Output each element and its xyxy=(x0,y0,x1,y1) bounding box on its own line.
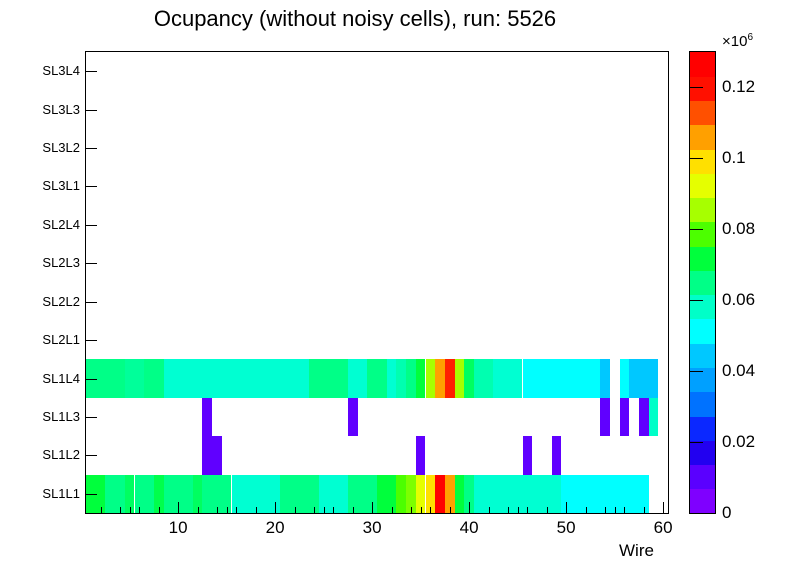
heatmap-cell xyxy=(387,359,397,397)
y-axis-tick xyxy=(86,148,97,149)
colorbar-band xyxy=(690,76,715,101)
y-axis-label-sl1l1: SL1L1 xyxy=(42,487,80,500)
colorbar-exponent: ×106 xyxy=(722,30,753,49)
y-axis-label-sl2l4: SL2L4 xyxy=(42,218,80,231)
colorbar-band xyxy=(690,101,715,126)
x-axis-tick xyxy=(314,507,315,513)
heatmap-cell xyxy=(523,359,601,397)
y-axis-tick xyxy=(86,340,97,341)
y-axis-tick xyxy=(86,186,97,187)
heatmap-cell xyxy=(435,359,445,397)
heatmap-row-sl1l3 xyxy=(86,398,668,436)
x-axis-tick xyxy=(489,507,490,513)
page-title: Ocupancy (without noisy cells), run: 552… xyxy=(0,6,710,32)
x-axis-title: Wire xyxy=(619,542,654,559)
x-axis-tick xyxy=(411,507,412,513)
x-axis-tick xyxy=(101,507,102,513)
heatmap-cell xyxy=(251,359,280,397)
y-axis-label-sl2l1: SL2L1 xyxy=(42,333,80,346)
x-axis-tick xyxy=(624,507,625,513)
y-axis-tick xyxy=(86,110,97,111)
heatmap-cell xyxy=(523,436,533,474)
y-axis-label-sl3l3: SL3L3 xyxy=(42,103,80,116)
x-axis-tick xyxy=(566,502,567,513)
y-axis-label-sl3l1: SL3L1 xyxy=(42,179,80,192)
x-axis-label-60: 60 xyxy=(643,519,683,536)
x-axis-tick xyxy=(392,507,393,513)
x-axis-tick xyxy=(586,507,587,513)
y-axis-tick xyxy=(86,225,97,226)
heatmap-cell xyxy=(416,359,426,397)
heatmap-cell xyxy=(202,398,212,436)
heatmap-cell xyxy=(348,359,367,397)
heatmap-row-sl2l4 xyxy=(86,206,668,244)
y-axis-tick xyxy=(86,263,97,264)
x-axis-tick xyxy=(518,507,519,513)
heatmap-cell xyxy=(135,475,154,513)
x-axis-tick xyxy=(450,507,451,513)
x-axis-tick xyxy=(644,507,645,513)
heatmap-cell xyxy=(493,359,522,397)
colorbar-band xyxy=(690,489,715,514)
heatmap-row-sl3l1 xyxy=(86,167,668,205)
colorbar-band xyxy=(690,198,715,223)
heatmap-cell xyxy=(309,359,348,397)
x-axis-tick xyxy=(130,507,131,513)
heatmap-cell xyxy=(600,398,610,436)
heatmap-cell xyxy=(455,475,465,513)
heatmap-cell xyxy=(280,359,309,397)
x-axis-tick xyxy=(421,507,422,513)
x-axis-tick xyxy=(527,507,528,513)
x-axis-label-20: 20 xyxy=(255,519,295,536)
y-axis-label-sl3l4: SL3L4 xyxy=(42,64,80,77)
colorbar-band xyxy=(690,295,715,320)
colorbar-tick xyxy=(689,513,703,514)
heatmap-cell xyxy=(416,436,426,474)
x-axis-tick xyxy=(469,502,470,513)
x-axis-tick xyxy=(615,507,616,513)
y-axis-tick xyxy=(86,494,97,495)
colorbar-label-0: 0 xyxy=(722,504,731,521)
x-axis-tick xyxy=(275,502,276,513)
y-axis-tick xyxy=(86,379,97,380)
x-axis-tick xyxy=(324,507,325,513)
colorbar-band xyxy=(690,464,715,489)
x-axis-tick xyxy=(256,507,257,513)
x-axis-tick xyxy=(227,507,228,513)
heatmap-cell xyxy=(464,359,474,397)
heatmap-cell xyxy=(125,359,144,397)
y-axis-tick xyxy=(86,455,97,456)
heatmap-cell xyxy=(455,359,465,397)
y-axis-tick xyxy=(86,302,97,303)
heatmap-cell xyxy=(639,398,649,436)
colorbar-label-0.08: 0.08 xyxy=(722,220,755,237)
colorbar-label-0.06: 0.06 xyxy=(722,291,755,308)
colorbar-band xyxy=(690,173,715,198)
x-axis-tick xyxy=(333,507,334,513)
heatmap-cell xyxy=(552,436,562,474)
y-axis-tick xyxy=(86,71,97,72)
heatmap-cell xyxy=(649,398,659,436)
heatmap-cell xyxy=(426,359,436,397)
heatmap-cell xyxy=(377,475,396,513)
heatmap-cell xyxy=(144,359,163,397)
colorbar-label-0.1: 0.1 xyxy=(722,149,746,166)
heatmap-row-sl3l3 xyxy=(86,90,668,128)
heatmap-cell xyxy=(164,359,222,397)
x-axis-tick xyxy=(295,507,296,513)
y-axis-label-sl1l2: SL1L2 xyxy=(42,448,80,461)
x-axis-tick xyxy=(430,507,431,513)
x-axis-tick xyxy=(236,507,237,513)
x-axis-tick xyxy=(139,507,140,513)
heatmap-area[interactable] xyxy=(86,52,668,513)
colorbar-label-0.04: 0.04 xyxy=(722,362,755,379)
colorbar-band xyxy=(690,52,715,77)
x-axis-tick xyxy=(178,502,179,513)
y-axis-label-sl2l3: SL2L3 xyxy=(42,256,80,269)
y-axis-label-sl2l2: SL2L2 xyxy=(42,295,80,308)
x-axis-tick xyxy=(508,507,509,513)
heatmap-cell xyxy=(396,359,406,397)
x-axis-label-50: 50 xyxy=(546,519,586,536)
heatmap-cell xyxy=(105,475,124,513)
root-canvas: Ocupancy (without noisy cells), run: 552… xyxy=(0,0,796,572)
heatmap-cell xyxy=(367,359,386,397)
x-axis-tick xyxy=(663,502,664,513)
heatmap-cell xyxy=(474,359,493,397)
x-axis-tick xyxy=(217,507,218,513)
x-axis-tick xyxy=(198,507,199,513)
x-axis-tick xyxy=(353,507,354,513)
y-axis-label-sl3l2: SL3L2 xyxy=(42,141,80,154)
y-axis-label-sl1l4: SL1L4 xyxy=(42,372,80,385)
colorbar-band xyxy=(690,392,715,417)
colorbar-tick xyxy=(689,300,703,301)
x-axis-tick xyxy=(120,507,121,513)
heatmap-cell xyxy=(620,359,630,397)
y-axis-tick xyxy=(86,417,97,418)
heatmap-row-sl3l4 xyxy=(86,52,668,90)
x-axis-tick xyxy=(159,507,160,513)
heatmap-row-sl2l1 xyxy=(86,321,668,359)
colorbar-band xyxy=(690,149,715,174)
heatmap-row-sl1l2 xyxy=(86,436,668,474)
colorbar-band xyxy=(690,246,715,271)
heatmap-row-sl2l2 xyxy=(86,283,668,321)
heatmap-cell xyxy=(396,475,406,513)
colorbar-band xyxy=(690,319,715,344)
heatmap-row-sl1l1 xyxy=(86,475,668,513)
heatmap-cell xyxy=(348,398,358,436)
heatmap-cell xyxy=(435,475,445,513)
colorbar-band xyxy=(690,270,715,295)
colorbar-band xyxy=(690,125,715,150)
colorbar-band xyxy=(690,440,715,465)
heatmap-cell xyxy=(445,359,455,397)
colorbar-band xyxy=(690,222,715,247)
colorbar-label-0.02: 0.02 xyxy=(722,433,755,450)
colorbar-band xyxy=(690,343,715,368)
x-axis-tick xyxy=(547,507,548,513)
heatmap-cell xyxy=(600,359,610,397)
x-axis-label-40: 40 xyxy=(449,519,489,536)
colorbar-tick xyxy=(689,371,703,372)
colorbar-tick xyxy=(689,442,703,443)
x-axis-label-10: 10 xyxy=(158,519,198,536)
x-axis-tick xyxy=(372,502,373,513)
colorbar-tick xyxy=(689,87,703,88)
color-bar[interactable] xyxy=(689,51,716,514)
heatmap-cell xyxy=(222,359,251,397)
heatmap-cell xyxy=(620,398,630,436)
x-axis-label-30: 30 xyxy=(352,519,392,536)
colorbar-band xyxy=(690,416,715,441)
heatmap-cell xyxy=(406,359,416,397)
colorbar-label-0.12: 0.12 xyxy=(722,78,755,95)
heatmap-row-sl1l4 xyxy=(86,359,668,397)
heatmap-row-sl2l3 xyxy=(86,244,668,282)
colorbar-tick xyxy=(689,158,703,159)
y-axis-label-sl1l3: SL1L3 xyxy=(42,410,80,423)
x-axis-tick xyxy=(605,507,606,513)
heatmap-cell xyxy=(96,359,125,397)
colorbar-tick xyxy=(689,229,703,230)
heatmap-cell xyxy=(629,359,658,397)
heatmap-row-sl3l2 xyxy=(86,129,668,167)
plot-frame xyxy=(85,51,669,514)
heatmap-cell xyxy=(202,436,221,474)
